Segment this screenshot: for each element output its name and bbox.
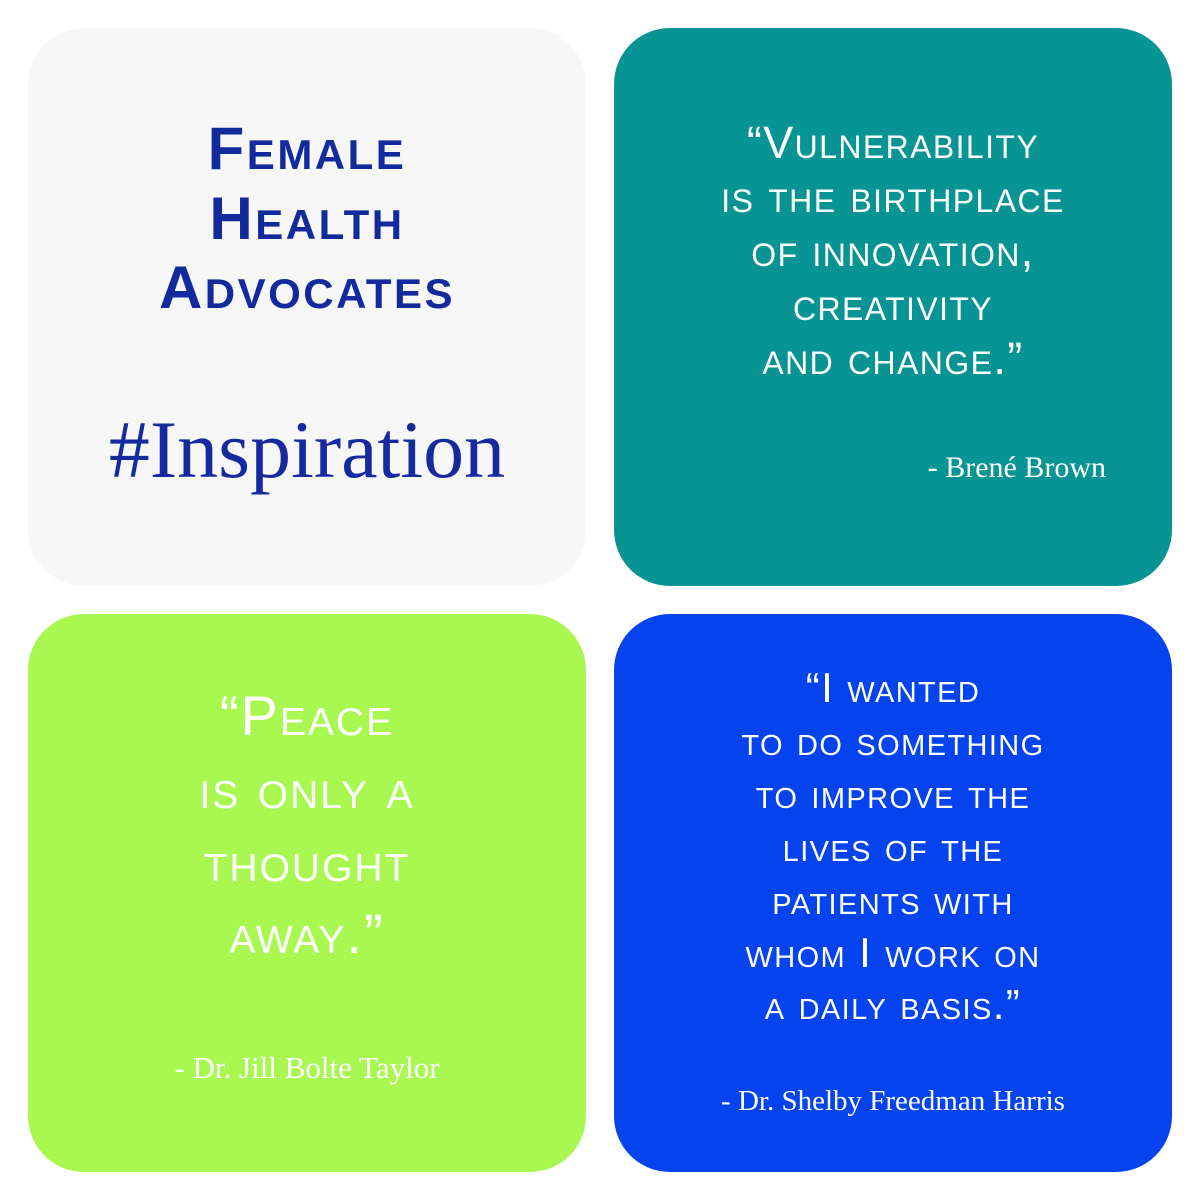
quote-text: “I wanted to do something to improve the… bbox=[741, 662, 1044, 1032]
quote-card-grid: Female Health Advocates #Inspiration “Vu… bbox=[0, 0, 1200, 1200]
attribution-row: - Dr. Shelby Freedman Harris bbox=[640, 1084, 1146, 1119]
quote-card-vulnerability: “Vulnerability is the birthplace of inno… bbox=[614, 28, 1172, 586]
quote-attribution: - Brené Brown bbox=[928, 450, 1106, 486]
quote-attribution: - Dr. Shelby Freedman Harris bbox=[721, 1084, 1065, 1119]
title-card: Female Health Advocates #Inspiration bbox=[28, 28, 586, 586]
quote-card-peace: “Peace is only a thought away.” - Dr. Ji… bbox=[28, 614, 586, 1172]
quote-card-patients: “I wanted to do something to improve the… bbox=[614, 614, 1172, 1172]
quote-text: “Peace is only a thought away.” bbox=[199, 680, 414, 971]
hashtag-label: #Inspiration bbox=[109, 409, 505, 491]
page-title: Female Health Advocates bbox=[159, 114, 455, 323]
attribution-row: - Brené Brown bbox=[640, 450, 1146, 486]
attribution-row: - Dr. Jill Bolte Taylor bbox=[54, 1049, 560, 1086]
quote-text: “Vulnerability is the birthplace of inno… bbox=[721, 116, 1064, 386]
quote-attribution: - Dr. Jill Bolte Taylor bbox=[174, 1049, 439, 1086]
